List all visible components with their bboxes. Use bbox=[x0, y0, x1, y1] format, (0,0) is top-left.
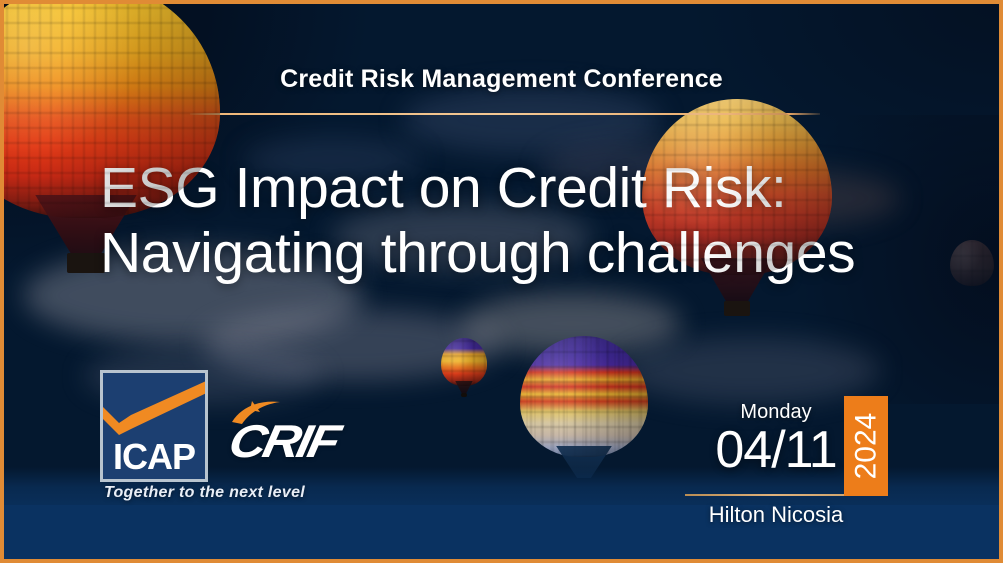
icap-logo: ICAP bbox=[100, 370, 208, 482]
icap-tagline: Together to the next level bbox=[104, 484, 305, 502]
balloon-envelope bbox=[441, 338, 487, 386]
balloon-envelope bbox=[0, 0, 220, 218]
balloon-faint-right bbox=[950, 240, 994, 296]
conference-slide: Credit Risk Management Conference ESG Im… bbox=[0, 0, 1003, 563]
icap-wordmark: ICAP bbox=[103, 439, 205, 475]
balloon-basket bbox=[724, 301, 751, 316]
event-year: 2024 bbox=[851, 413, 881, 480]
balloon-basket bbox=[461, 393, 467, 397]
crif-logo: CRIF bbox=[222, 408, 397, 468]
event-year-badge: 2024 bbox=[844, 396, 888, 496]
balloon-envelope bbox=[642, 99, 832, 275]
balloon-envelope bbox=[520, 336, 648, 457]
icap-checkmark-swoosh-icon bbox=[100, 379, 208, 435]
balloon-envelope bbox=[950, 240, 994, 286]
balloon-small-center bbox=[441, 338, 487, 396]
balloon-multicolor-center bbox=[520, 336, 648, 484]
crif-wordmark: CRIF bbox=[225, 418, 342, 464]
event-venue: Hilton Nicosia bbox=[671, 502, 881, 528]
logo-group: ICAP CRIF Together to the next level bbox=[100, 370, 400, 500]
